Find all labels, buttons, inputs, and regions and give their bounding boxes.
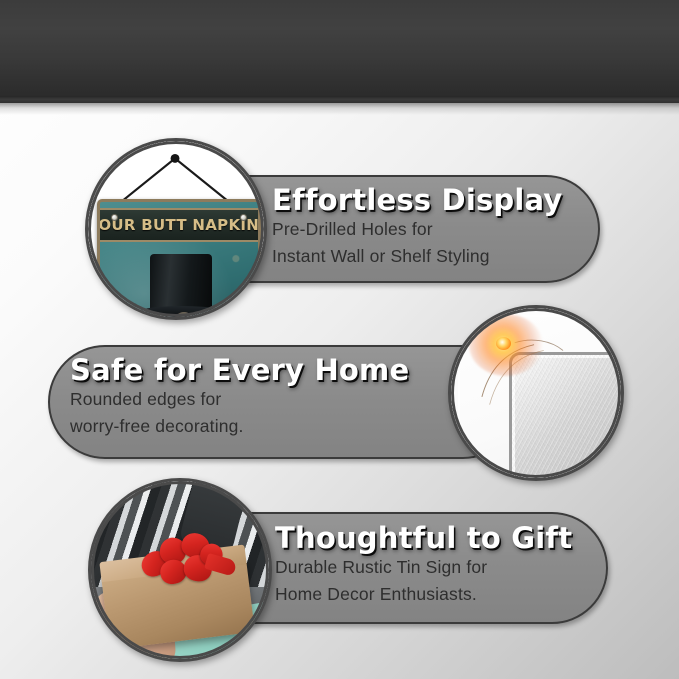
feature-text-effortless-display: Effortless Display Pre-Drilled Holes for… (272, 185, 563, 268)
feature-text-safe-for-every-home: Safe for Every Home Rounded edges for wo… (70, 355, 409, 438)
sign-headline-text: YOUR BUTT NAPKINS (97, 216, 261, 234)
product-details-infographic: PRODUCT DETAILS Thoughtful Design Rounde… (0, 0, 679, 679)
hanging-tin-sign-photo: YOUR BUTT NAPKINS (88, 141, 264, 317)
feature-body-line-2: Home Decor Enthusiasts. (275, 583, 572, 606)
rounded-metal-corner-photo (451, 308, 621, 478)
feature-title: Thoughtful to Gift (275, 523, 572, 553)
feature-body-line-2: Instant Wall or Shelf Styling (272, 245, 563, 268)
mount-hole-right (240, 214, 247, 221)
feature-title: Safe for Every Home (70, 355, 409, 385)
tin-sign: YOUR BUTT NAPKINS (97, 199, 261, 320)
red-ribbon-bow-icon (136, 529, 223, 591)
feature-image-rounded-metal-corner (448, 305, 624, 481)
header-drop-shadow (0, 103, 679, 115)
feature-text-thoughtful-to-gift: Thoughtful to Gift Durable Rustic Tin Si… (275, 523, 572, 606)
gift-box-handoff-photo (91, 481, 269, 659)
spark-core-icon (496, 337, 511, 350)
feature-body-line-1: Rounded edges for (70, 388, 409, 411)
feature-body-line-2: worry-free decorating. (70, 415, 409, 438)
sign-text-band: YOUR BUTT NAPKINS (100, 208, 258, 242)
feature-body-line-1: Pre-Drilled Holes for (272, 218, 563, 241)
feature-title: Effortless Display (272, 185, 563, 215)
header-bottom-edge (0, 96, 679, 103)
feature-image-gift-box (88, 478, 272, 662)
top-hat-crown (150, 254, 212, 310)
header-band (0, 0, 679, 96)
feature-body-line-1: Durable Rustic Tin Sign for (275, 556, 572, 579)
feature-image-hanging-tin-sign: YOUR BUTT NAPKINS (85, 138, 267, 320)
mount-hole-left (111, 214, 118, 221)
